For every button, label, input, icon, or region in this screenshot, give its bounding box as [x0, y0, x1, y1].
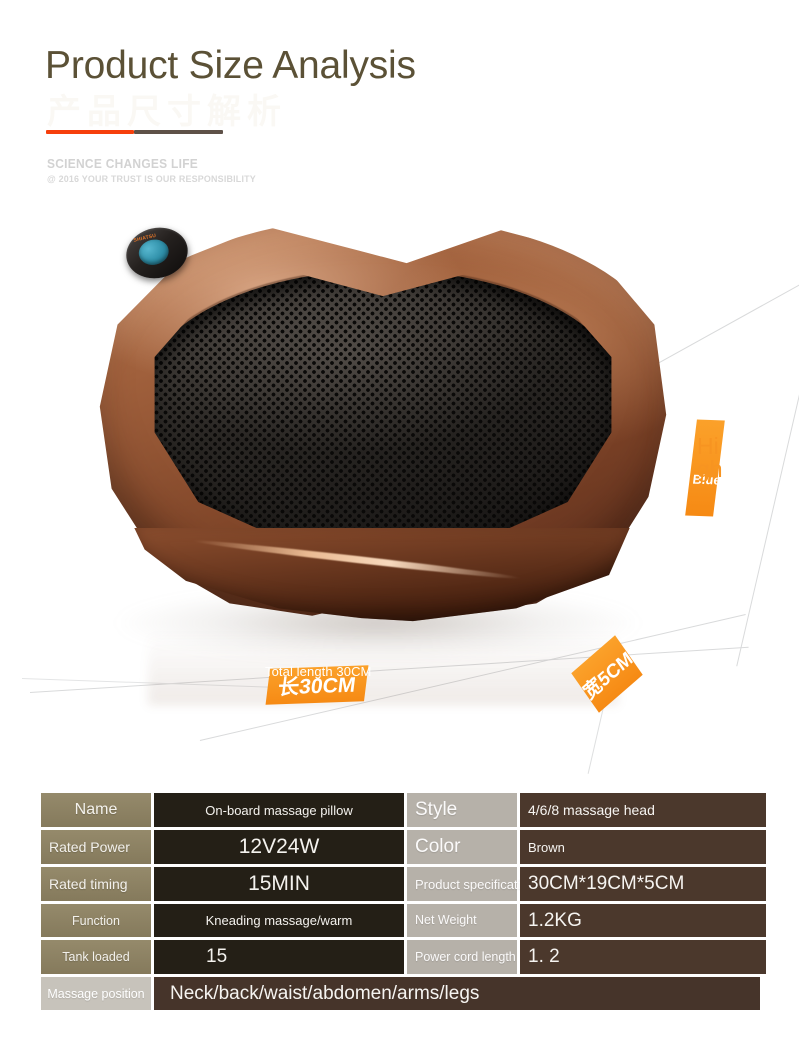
spec-label-rated-power: Rated Power — [41, 830, 151, 864]
spec-value-tank-loaded: 15 — [154, 940, 404, 974]
page-header: 产品尺寸解析 Product Size Analysis SCIENCE CHA… — [45, 46, 745, 87]
perspective-guide-line — [736, 374, 799, 667]
product-reflection — [148, 610, 618, 705]
product-hero-image: SHIATSU Blue High 长30CM Total length 30C… — [0, 180, 799, 780]
spec-value-rated-power: 12V24W — [154, 830, 404, 864]
title-watermark: 产品尺寸解析 — [47, 84, 287, 133]
spec-label-name: Name — [41, 793, 151, 827]
accent-rule — [46, 130, 134, 134]
spec-label-product-specifications: Product specifications — [407, 867, 517, 901]
spec-value-color: Brown — [520, 830, 766, 864]
height-callout-label: High — [697, 435, 723, 482]
spec-value-rated-timing: 15MIN — [154, 867, 404, 901]
spec-label-power-cord-length: Power cord length — [407, 940, 517, 974]
title-underline-rules — [46, 130, 223, 134]
spec-label-color: Color — [407, 830, 517, 864]
specification-grid: Name On-board massage pillow Style 4/6/8… — [41, 793, 757, 974]
spec-value-function: Kneading massage/warm — [154, 904, 404, 937]
spec-label-style: Style — [407, 793, 517, 827]
spec-value-power-cord-length: 1. 2 — [520, 940, 766, 974]
spec-value-style: 4/6/8 massage head — [520, 793, 766, 827]
page-title: Product Size Analysis — [45, 46, 745, 87]
specification-table: Name On-board massage pillow Style 4/6/8… — [41, 793, 757, 1010]
spec-value-massage-position: Neck/back/waist/abdomen/arms/legs — [154, 977, 760, 1010]
length-callout-label: Total length 30CM — [265, 664, 371, 679]
specification-footer-row: Massage position Neck/back/waist/abdomen… — [41, 977, 757, 1010]
massage-pillow-product: SHIATSU — [88, 218, 678, 638]
secondary-rule — [134, 130, 223, 134]
spec-value-name: On-board massage pillow — [154, 793, 404, 827]
subtitle-tagline: SCIENCE CHANGES LIFE — [47, 156, 251, 171]
spec-label-tank-loaded: Tank loaded — [41, 940, 151, 974]
spec-value-net-weight: 1.2KG — [520, 904, 766, 937]
spec-label-function: Function — [41, 904, 151, 937]
spec-label-massage-position: Massage position — [41, 977, 151, 1010]
spec-label-rated-timing: Rated timing — [41, 867, 151, 901]
spec-label-net-weight: Net Weight — [407, 904, 517, 937]
spec-value-product-specifications: 30CM*19CM*5CM — [520, 867, 766, 901]
